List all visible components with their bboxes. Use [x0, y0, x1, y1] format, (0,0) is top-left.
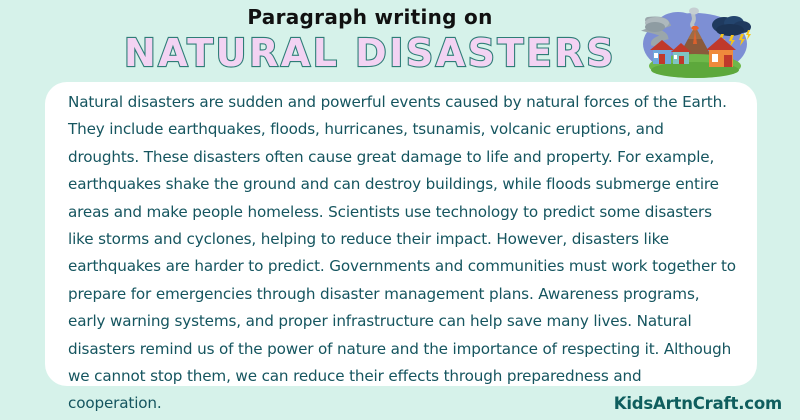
site-watermark: KidsArtnCraft.com [614, 394, 782, 413]
content-card: Natural disasters are sudden and powerfu… [45, 82, 757, 386]
subtitle-text: Paragraph writing on [110, 4, 630, 30]
page-header: Paragraph writing on NATURAL DISASTERS [0, 0, 800, 84]
natural-disasters-illustration [638, 6, 752, 78]
page-title: NATURAL DISASTERS [110, 30, 630, 76]
paragraph-text: Natural disasters are sudden and powerfu… [68, 89, 736, 418]
title-block: Paragraph writing on NATURAL DISASTERS [110, 4, 630, 76]
illustration-svg [638, 6, 752, 78]
smoke-puff [689, 8, 699, 15]
tornado-mid [645, 22, 665, 32]
